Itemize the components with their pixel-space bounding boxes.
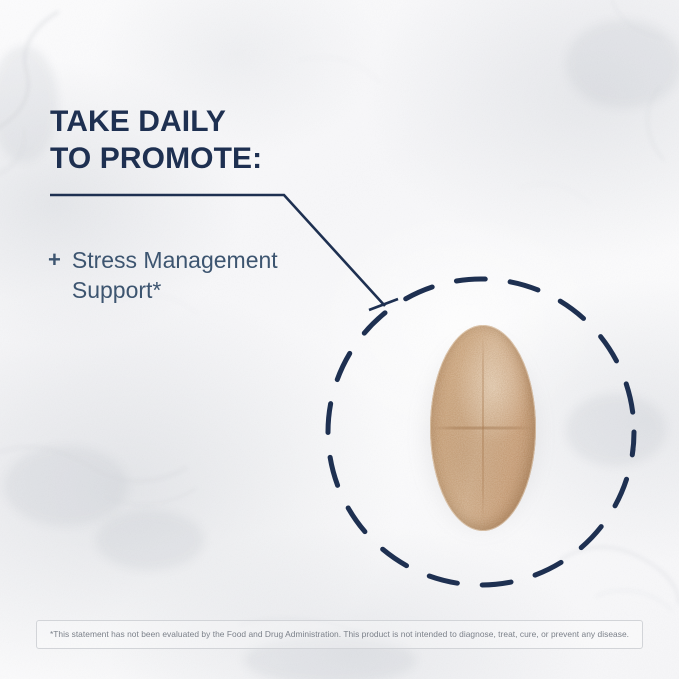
product-tablet [430, 325, 536, 531]
marble-grain-texture [0, 0, 679, 679]
page-title: TAKE DAILY TO PROMOTE: [50, 104, 380, 177]
plus-icon: + [48, 246, 61, 275]
disclaimer-box: *This statement has not been evaluated b… [36, 620, 643, 649]
tablet-body [430, 325, 536, 531]
product-benefit-panel: TAKE DAILY TO PROMOTE: + Stress Manageme… [0, 0, 679, 679]
benefit-label: Stress Management Support* [72, 246, 298, 306]
benefit-list-item: + Stress Management Support* [48, 246, 298, 306]
disclaimer-text: *This statement has not been evaluated b… [50, 629, 629, 639]
tablet-rim-shading [430, 325, 536, 531]
